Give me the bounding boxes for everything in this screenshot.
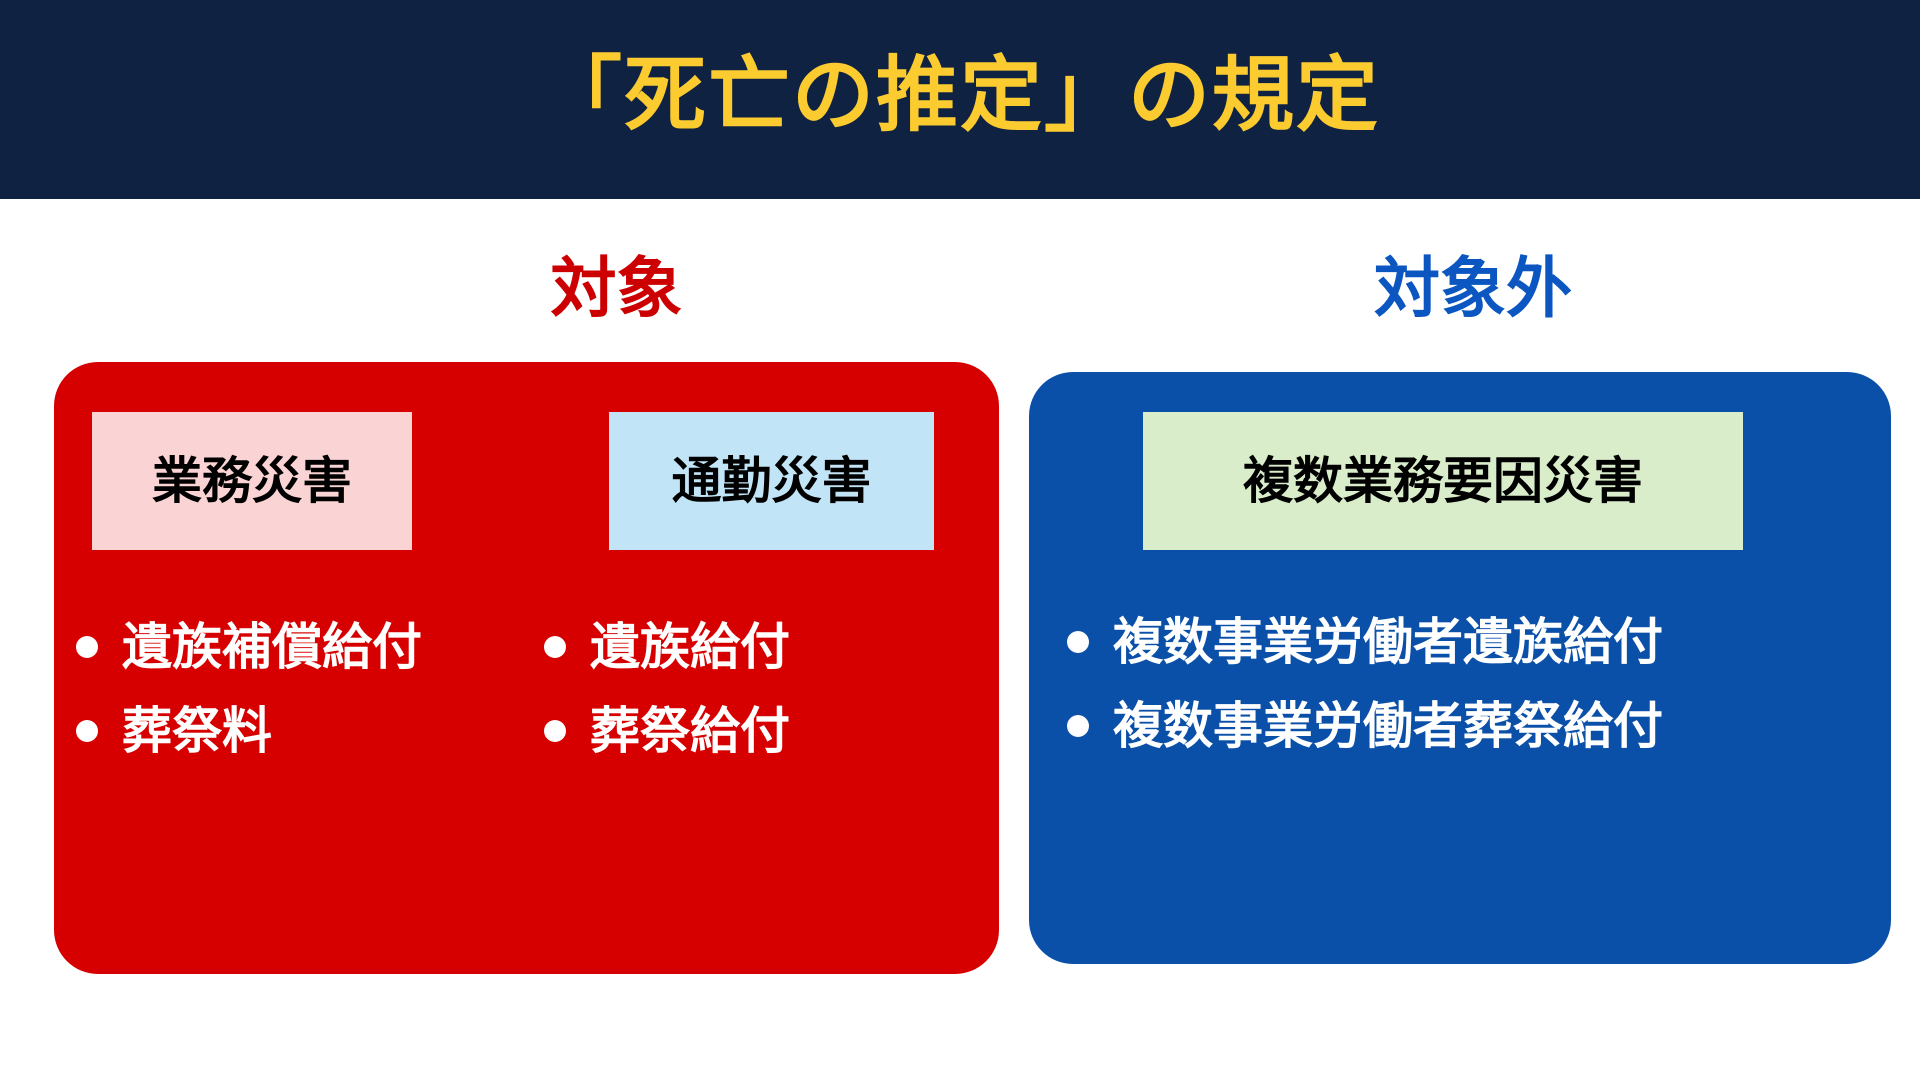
- bullet-dot-icon: [544, 636, 566, 658]
- slide-title: 「死亡の推定」の規定: [540, 55, 1380, 137]
- slide-title-bar: 「死亡の推定」の規定: [0, 0, 1920, 199]
- badge-multiple-employment-cause-accident: 複数業務要因災害: [1143, 412, 1743, 550]
- bullet-dot-icon: [544, 720, 566, 742]
- list-item: 遺族補償給付: [76, 622, 422, 672]
- benefit-list-work-accident: 遺族補償給付 葬祭料: [76, 622, 422, 756]
- badge-commuting-accident-label: 通勤災害: [672, 456, 872, 506]
- list-item: 遺族給付: [544, 622, 790, 672]
- bullet-dot-icon: [76, 720, 98, 742]
- badge-multiple-employment-cause-accident-label: 複数業務要因災害: [1243, 456, 1643, 506]
- bullet-dot-icon: [1067, 631, 1089, 653]
- benefit-list-commuting-accident: 遺族給付 葬祭給付: [544, 622, 790, 756]
- list-item: 葬祭料: [76, 706, 422, 756]
- benefit-list-multiple-employment: 複数事業労働者遺族給付 複数事業労働者葬祭給付: [1067, 617, 1663, 751]
- column-heading-non-target: 対象外: [1026, 255, 1920, 321]
- panel-non-target: 複数業務要因災害 複数事業労働者遺族給付 複数事業労働者葬祭給付: [1029, 372, 1891, 964]
- list-item: 複数事業労働者遺族給付: [1067, 617, 1663, 667]
- list-item: 複数事業労働者葬祭給付: [1067, 701, 1663, 751]
- badge-commuting-accident: 通勤災害: [609, 412, 934, 550]
- list-item-label: 遺族給付: [590, 622, 790, 672]
- list-item: 葬祭給付: [544, 706, 790, 756]
- bullet-dot-icon: [1067, 715, 1089, 737]
- badge-work-accident-label: 業務災害: [152, 456, 352, 506]
- list-item-label: 複数事業労働者葬祭給付: [1113, 701, 1663, 751]
- list-item-label: 遺族補償給付: [122, 622, 422, 672]
- list-item-label: 葬祭給付: [590, 706, 790, 756]
- bullet-dot-icon: [76, 636, 98, 658]
- list-item-label: 複数事業労働者遺族給付: [1113, 617, 1663, 667]
- slide-canvas: 「死亡の推定」の規定 対象 対象外 業務災害 通勤災害 遺族補償給付 葬祭料 遺…: [0, 0, 1920, 1080]
- panel-target: 業務災害 通勤災害 遺族補償給付 葬祭料 遺族給付 葬祭給付: [54, 362, 999, 974]
- list-item-label: 葬祭料: [122, 706, 272, 756]
- badge-work-accident: 業務災害: [92, 412, 412, 550]
